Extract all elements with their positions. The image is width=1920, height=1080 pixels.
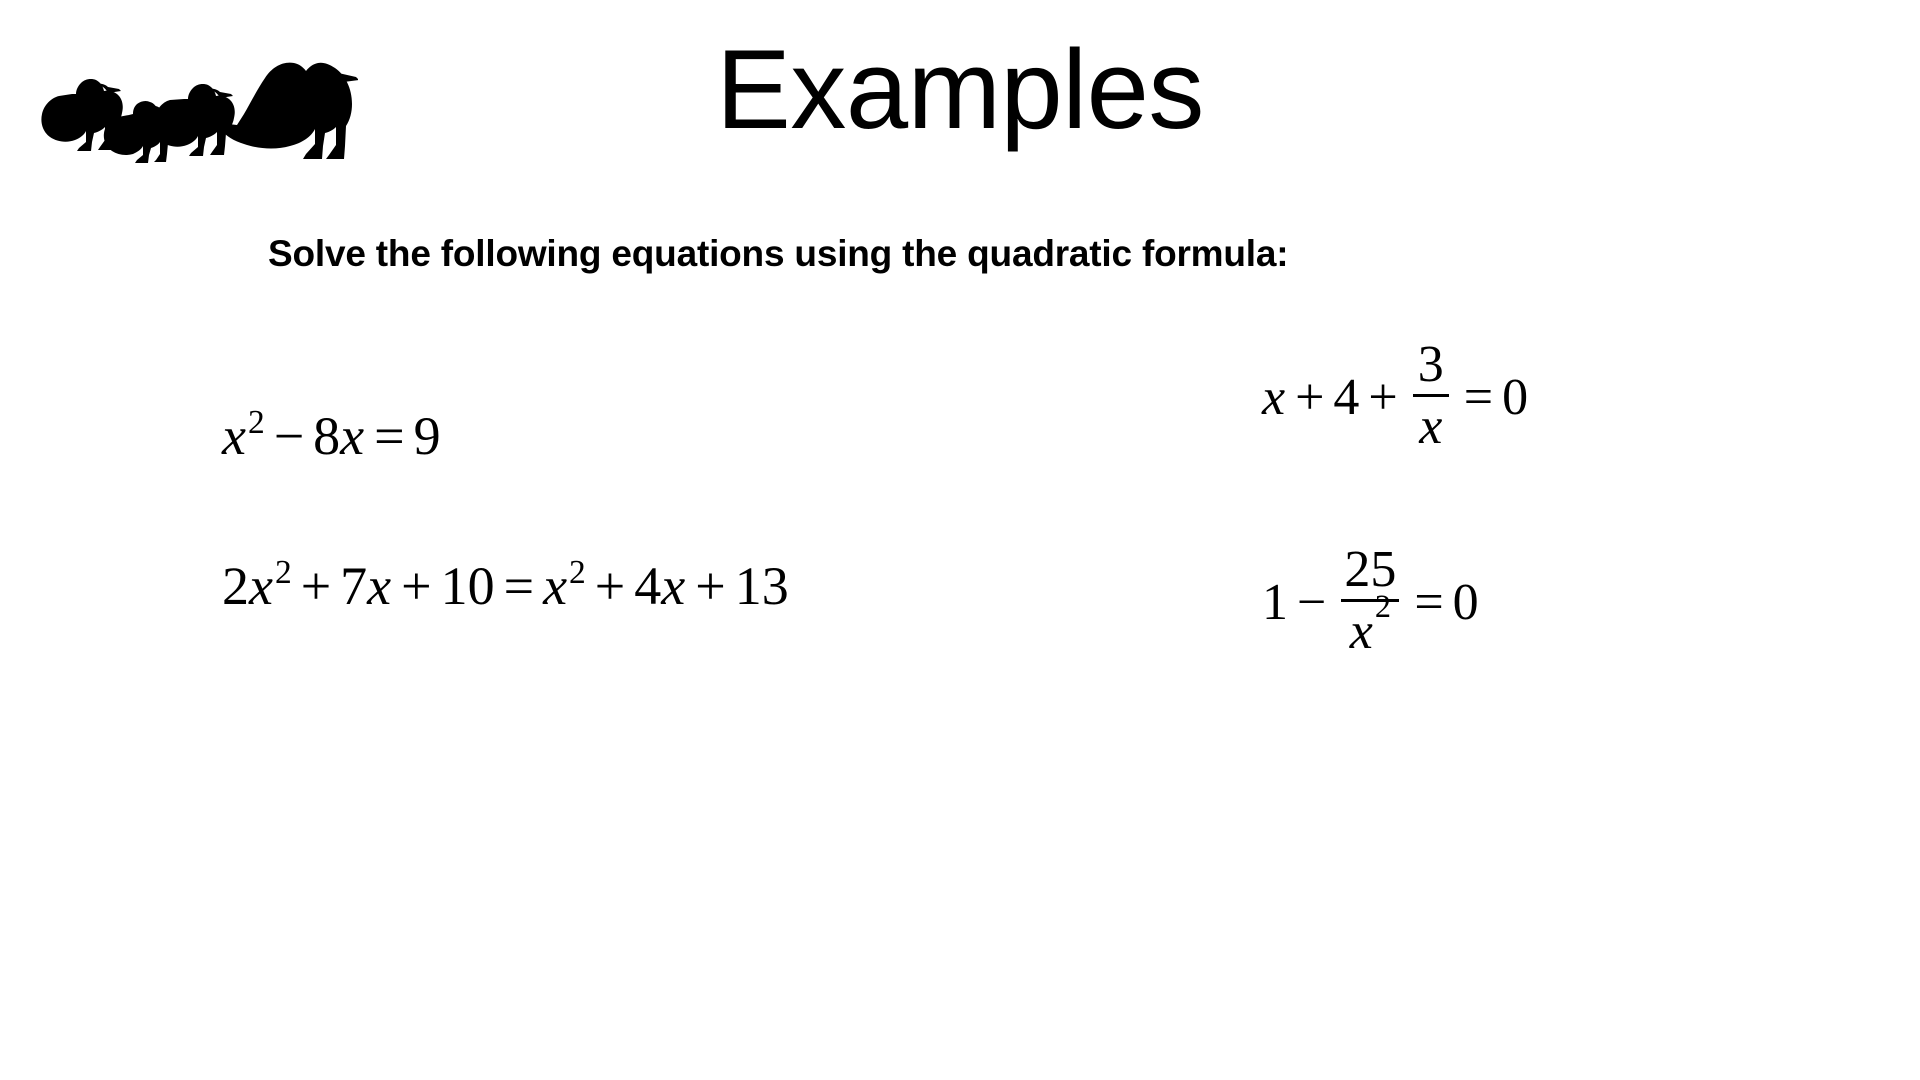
eq2-variable-x3: x: [543, 555, 568, 617]
equation-4: 1 − 25 x2 = 0: [1262, 545, 1479, 660]
eq2-operator-plus-2: +: [392, 555, 440, 617]
eq2-constant-10: 10: [441, 555, 495, 617]
eq2-operator-plus-4: +: [686, 555, 734, 617]
eq4-right-side: 0: [1453, 573, 1479, 632]
eq2-coefficient-2: 2: [222, 555, 249, 617]
eq3-operator-plus-1: +: [1286, 368, 1333, 427]
eq2-variable-x4: x: [661, 555, 686, 617]
eq4-operator-minus: −: [1288, 573, 1335, 632]
eq4-constant-1: 1: [1262, 573, 1288, 632]
eq3-fraction-denominator: x: [1416, 400, 1445, 453]
eq2-coefficient-4: 4: [634, 555, 661, 617]
eq4-denominator-exponent: 2: [1374, 588, 1391, 624]
eq1-equals-sign: =: [365, 405, 413, 467]
eq2-variable-x1: x: [249, 555, 274, 617]
eq2-variable-x2: x: [367, 555, 392, 617]
eq2-operator-plus-1: +: [292, 555, 340, 617]
slide-canvas: Examples Solve the following equations u…: [0, 0, 1920, 1080]
eq2-operator-plus-3: +: [586, 555, 634, 617]
eq2-constant-13: 13: [735, 555, 789, 617]
eq1-coefficient-8: 8: [313, 405, 340, 467]
eq4-denominator-variable: x: [1350, 603, 1374, 660]
eq3-right-side: 0: [1502, 368, 1528, 427]
eq2-coefficient-7: 7: [340, 555, 367, 617]
eq3-fraction-bar: [1413, 394, 1449, 397]
eq3-equals-sign: =: [1455, 368, 1502, 427]
eq4-equals-sign: =: [1405, 573, 1452, 632]
eq4-fraction: 25 x2: [1341, 543, 1399, 658]
eq3-operator-plus-2: +: [1359, 368, 1406, 427]
eq3-variable-x: x: [1262, 368, 1286, 427]
eq1-right-side: 9: [414, 405, 441, 467]
equation-2: 2x2 + 7x + 10 = x2 + 4x + 13: [222, 555, 789, 617]
eq3-fraction: 3 x: [1413, 338, 1449, 453]
equation-1: x2 − 8x = 9: [222, 405, 441, 467]
eq1-variable-x: x: [222, 405, 247, 467]
eq2-equals-sign: =: [495, 555, 543, 617]
eq1-operator-minus: −: [265, 405, 313, 467]
equation-3: x + 4 + 3 x = 0: [1262, 340, 1528, 455]
instruction-text: Solve the following equations using the …: [268, 232, 1288, 276]
eq3-fraction-numerator: 3: [1415, 338, 1447, 391]
eq4-fraction-denominator: x2: [1347, 605, 1394, 658]
eq1-variable-x2: x: [340, 405, 365, 467]
eq3-constant-4: 4: [1333, 368, 1359, 427]
page-title: Examples: [0, 28, 1920, 151]
